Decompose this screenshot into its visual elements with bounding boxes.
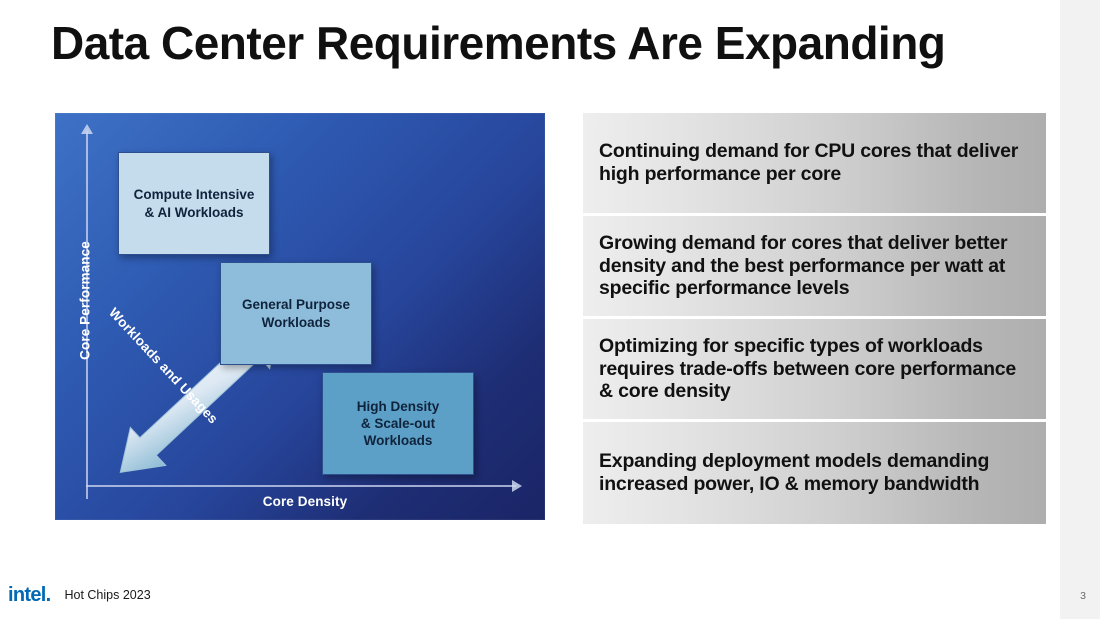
workload-quadrant-chart: Core Performance Core Density Workloads … — [55, 113, 545, 520]
bullet-panel: Growing demand for cores that deliver be… — [583, 216, 1046, 316]
page-title: Data Center Requirements Are Expanding — [51, 16, 945, 70]
x-axis-line — [86, 485, 516, 487]
workload-box-label: General Purpose Workloads — [242, 296, 350, 331]
y-axis-arrowhead-icon — [81, 124, 93, 134]
x-axis-label: Core Density — [205, 494, 405, 509]
workload-box-line: Workloads — [364, 433, 433, 448]
workload-box-label: High Density & Scale-out Workloads — [357, 398, 440, 450]
bullet-panel-text: Expanding deployment models demanding in… — [583, 450, 1046, 496]
slide-canvas: Data Center Requirements Are Expanding C… — [0, 0, 1060, 619]
workload-box-line: & Scale-out — [361, 416, 435, 431]
x-axis-arrowhead-icon — [512, 480, 522, 492]
bullet-panel-text: Optimizing for specific types of workloa… — [583, 335, 1046, 403]
workload-box-high-density: High Density & Scale-out Workloads — [322, 372, 474, 475]
intel-logo: intel. — [8, 585, 50, 605]
bullet-panel-text: Growing demand for cores that deliver be… — [583, 232, 1046, 300]
workload-box-label: Compute Intensive & AI Workloads — [134, 186, 255, 221]
bullet-panel-text: Continuing demand for CPU cores that del… — [583, 140, 1046, 186]
arrow-annotation-label: Workloads and Usages — [106, 305, 221, 427]
y-axis-label: Core Performance — [78, 231, 93, 371]
workload-box-general-purpose: General Purpose Workloads — [220, 262, 372, 365]
bullet-panel: Continuing demand for CPU cores that del… — [583, 113, 1046, 213]
workload-box-line: Workloads — [262, 315, 331, 330]
workload-box-line: Compute Intensive — [134, 187, 255, 202]
bullet-panel: Optimizing for specific types of workloa… — [583, 319, 1046, 419]
workload-box-line: High Density — [357, 399, 440, 414]
right-gutter — [1060, 0, 1100, 619]
bullet-panel: Expanding deployment models demanding in… — [583, 422, 1046, 524]
footer-event-label: Hot Chips 2023 — [64, 588, 150, 602]
workload-box-compute-intensive: Compute Intensive & AI Workloads — [118, 152, 270, 255]
footer: intel. Hot Chips 2023 — [8, 585, 151, 605]
workload-box-line: General Purpose — [242, 297, 350, 312]
workload-box-line: & AI Workloads — [144, 205, 243, 220]
page-number: 3 — [1080, 590, 1086, 602]
